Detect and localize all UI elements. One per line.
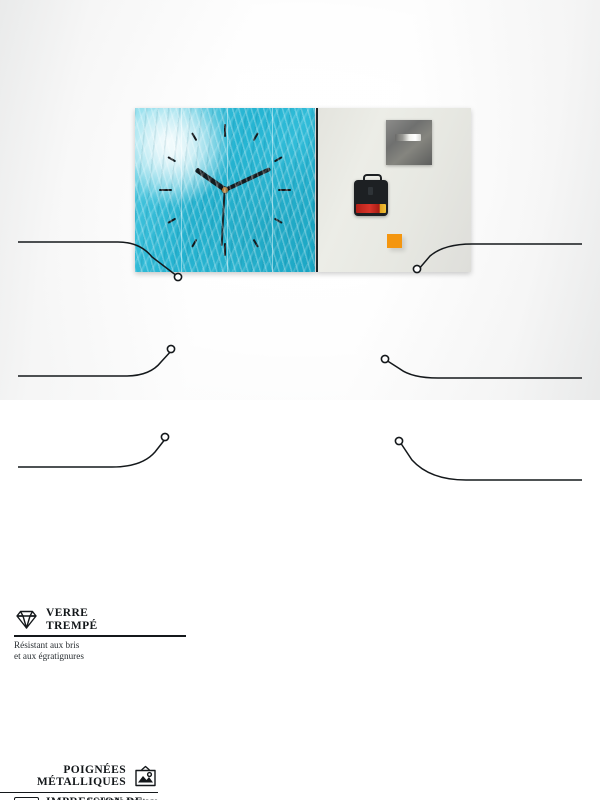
hanging-frame-icon bbox=[133, 764, 158, 789]
feature-poignees-metalliques[interactable]: POIGNÉESMÉTALLIQUES Facilite le montaged… bbox=[0, 764, 158, 800]
clock-tick bbox=[191, 239, 197, 248]
product-image-group bbox=[135, 108, 469, 272]
divider bbox=[14, 635, 186, 636]
clock-tick bbox=[167, 156, 176, 162]
connector-dot-impression-hd bbox=[167, 345, 174, 352]
clock-tick bbox=[253, 239, 259, 248]
clock-tick bbox=[278, 189, 291, 191]
connector-dot-entretoise bbox=[395, 437, 402, 444]
mechanism-hook bbox=[363, 174, 382, 185]
feature-description: Résistant aux briset aux égratignures bbox=[14, 640, 186, 663]
mechanism-shaft bbox=[368, 187, 373, 195]
connector-mecanisme bbox=[386, 360, 582, 378]
clock-tick bbox=[224, 243, 226, 256]
clock-minute-hand bbox=[224, 167, 271, 192]
divider bbox=[0, 792, 158, 793]
feature-description: Facilite le montagede l'horloge sur le m… bbox=[0, 796, 158, 800]
connector-impression-hd bbox=[18, 350, 172, 376]
feather-highlight bbox=[135, 108, 298, 272]
metal-hanger-plate bbox=[386, 120, 432, 165]
panel-seam bbox=[272, 108, 273, 272]
clock-tick bbox=[191, 132, 197, 141]
feature-title: POIGNÉESMÉTALLIQUES bbox=[0, 764, 126, 789]
connector-dot-mecanisme bbox=[381, 355, 388, 362]
clock-tick bbox=[167, 218, 176, 224]
clock-tick bbox=[224, 124, 226, 137]
panel-seam bbox=[227, 108, 228, 272]
connector-entretoise bbox=[400, 442, 582, 480]
clock-back-panel bbox=[316, 108, 471, 272]
feature-title: VERRETREMPÉ bbox=[46, 607, 186, 632]
clock-face bbox=[135, 108, 315, 272]
foam-spacer bbox=[387, 234, 402, 248]
clock-tick bbox=[253, 132, 259, 141]
infographic-canvas: VERRETREMPÉ Résistant aux briset aux égr… bbox=[0, 0, 600, 400]
clock-tick bbox=[159, 189, 172, 191]
connector-bords-polis bbox=[18, 438, 166, 467]
clock-center-cap bbox=[222, 187, 228, 193]
clock-hour-hand bbox=[194, 167, 226, 192]
battery bbox=[356, 204, 386, 213]
clock-mechanism bbox=[354, 180, 388, 216]
diamond-icon bbox=[14, 607, 39, 632]
clock-front-panel bbox=[135, 108, 315, 272]
clock-tick bbox=[274, 156, 283, 162]
connector-dot-verre-trempe bbox=[174, 273, 181, 280]
connector-dot-bords-polis bbox=[161, 433, 168, 440]
clock-second-hand bbox=[221, 190, 226, 246]
clock-tick bbox=[274, 218, 283, 224]
feature-verre-trempe[interactable]: VERRETREMPÉ Résistant aux briset aux égr… bbox=[14, 607, 186, 662]
panel-seam bbox=[181, 108, 182, 272]
